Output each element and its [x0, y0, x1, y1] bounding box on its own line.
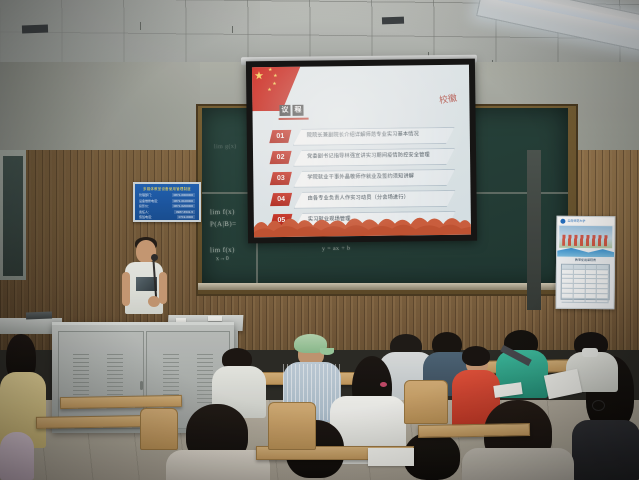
- info-board-row: 设备维修电话： 0871-6100000: [139, 199, 195, 203]
- cap-brim: [320, 348, 334, 355]
- ceiling-hanger-wire: [140, 22, 141, 30]
- table-cell: [585, 275, 597, 279]
- table-cell: [597, 270, 609, 274]
- table-cell: [574, 270, 586, 274]
- glasses-icon: [592, 400, 605, 411]
- paper-on-desk: [368, 448, 414, 466]
- chalk-writing: y = ax + b: [322, 246, 351, 254]
- poster-wave-graphic: [557, 247, 614, 258]
- table-cell: [574, 274, 586, 278]
- presenter-arm-right: [159, 272, 167, 304]
- table-cell: [573, 289, 585, 293]
- table-cell: [573, 298, 585, 302]
- info-row-label: 投影仪：: [139, 204, 151, 208]
- student-body: [0, 432, 34, 480]
- table-cell: [562, 265, 574, 269]
- seat-back: [140, 408, 178, 450]
- cabinet-louver-vent: [197, 354, 213, 406]
- screen-light-glow: [252, 65, 471, 238]
- info-row-value: 0871-6100000: [172, 199, 195, 203]
- chalk-writing: x→0: [216, 256, 229, 264]
- table-cell: [562, 274, 574, 278]
- classroom-photo: lim f(x) P(A|B)= lim f(x) x→0 μ(t)=P(T) …: [0, 0, 639, 480]
- table-cell: [573, 294, 585, 298]
- info-row-label: 责任人：: [139, 210, 151, 214]
- table-cell: [562, 284, 574, 288]
- table-cell: [597, 294, 609, 298]
- table-cell: [562, 279, 574, 283]
- info-row-label: 管理部门：: [139, 193, 154, 197]
- info-board-rows: 管理部门： 0871-6000000 设备维修电话： 0871-6100000 …: [139, 193, 195, 221]
- student-desk-row-front: [60, 395, 182, 409]
- info-row-value: 0719-6000: [177, 215, 195, 219]
- table-cell: [585, 294, 597, 298]
- notebook-in-hand: [544, 369, 582, 400]
- hair-tie: [380, 382, 387, 387]
- student-body: [166, 450, 270, 480]
- table-cell: [562, 298, 574, 302]
- table-cell: [585, 299, 597, 303]
- seat-back: [404, 380, 448, 424]
- student-body: [462, 448, 574, 480]
- table-cell: [585, 279, 597, 283]
- poster-logo-text: 云南师范大学: [567, 219, 585, 223]
- presenter-hand: [148, 296, 160, 307]
- poster-caption: 教室使用课程表: [557, 258, 614, 263]
- info-board-row: 值班电话： 0719-6000: [139, 215, 195, 219]
- table-cell: [597, 280, 609, 284]
- info-row-value: 0871-6000000: [172, 193, 195, 197]
- chalk-writing: P(A|B)=: [210, 220, 237, 229]
- table-cell: [574, 265, 586, 269]
- info-board-row: 管理部门： 0871-6000000: [139, 193, 195, 197]
- table-cell: [585, 265, 597, 269]
- books-on-counter: [26, 312, 52, 320]
- table-row: [562, 298, 609, 303]
- info-row-label: 设备维修电话：: [139, 199, 160, 203]
- table-cell: [562, 289, 574, 293]
- table-cell: [562, 270, 574, 274]
- seat-back: [268, 402, 316, 450]
- poster-photo: [559, 226, 612, 249]
- info-board-row: 投影仪： 0871-6200000: [139, 204, 195, 208]
- table-cell: [597, 265, 609, 269]
- wall-information-board: 多媒体教室设备使用管理制度 管理部门： 0871-6000000 设备维修电话：…: [133, 182, 201, 222]
- info-row-value: 0987-6531-5: [174, 210, 195, 214]
- info-board-row: 责任人： 0987-6531-5: [139, 210, 195, 214]
- cabinet-handle[interactable]: [140, 381, 143, 390]
- table-cell: [597, 275, 609, 279]
- poster-schedule-table: [561, 264, 610, 301]
- table-cell: [573, 284, 585, 288]
- table-cell: [585, 289, 597, 293]
- table-cell: [597, 289, 609, 293]
- student-hair: [462, 346, 490, 366]
- table-cell: [585, 270, 597, 274]
- table-cell: [585, 284, 597, 288]
- university-logo-icon: [560, 219, 565, 224]
- chalk-writing: lim f(x): [210, 246, 235, 255]
- microphone-head-icon: [151, 254, 158, 261]
- projection-screen: ★ ★ ★ ★ ★ 议 程 校徽 01 院院长兼副院长介绍详解师范专业实习基本情…: [252, 65, 471, 238]
- table-cell: [597, 284, 609, 288]
- ceiling-hanger-wire: [232, 26, 233, 33]
- presenter-arm-left: [122, 272, 130, 306]
- window-pane-left: [3, 156, 23, 276]
- student-desk-row-front: [418, 423, 530, 438]
- info-board-title: 多媒体教室设备使用管理制度: [135, 186, 199, 191]
- table-cell: [574, 279, 586, 283]
- info-row-label: 值班电话：: [139, 215, 154, 219]
- chalk-rail: [198, 283, 572, 290]
- ceiling-vent-left: [22, 25, 48, 34]
- student-desk-row-front: [36, 415, 142, 429]
- chalk-writing: lim g(x): [214, 144, 237, 152]
- classroom-schedule-poster: 云南师范大学 教室使用课程表: [556, 216, 616, 310]
- door-frame-right: [527, 150, 541, 310]
- table-cell: [562, 294, 574, 298]
- chalk-writing: lim f(x): [210, 208, 235, 217]
- paper-on-lectern: [208, 316, 222, 321]
- poster-photo-people: [562, 235, 609, 246]
- student-body: [572, 420, 639, 480]
- face-mask-icon: [582, 348, 598, 357]
- table-cell: [597, 299, 609, 303]
- ceiling-vent-center: [382, 17, 404, 25]
- poster-header: 云南师范大学: [557, 217, 614, 226]
- info-row-value: 0871-6200000: [172, 204, 195, 208]
